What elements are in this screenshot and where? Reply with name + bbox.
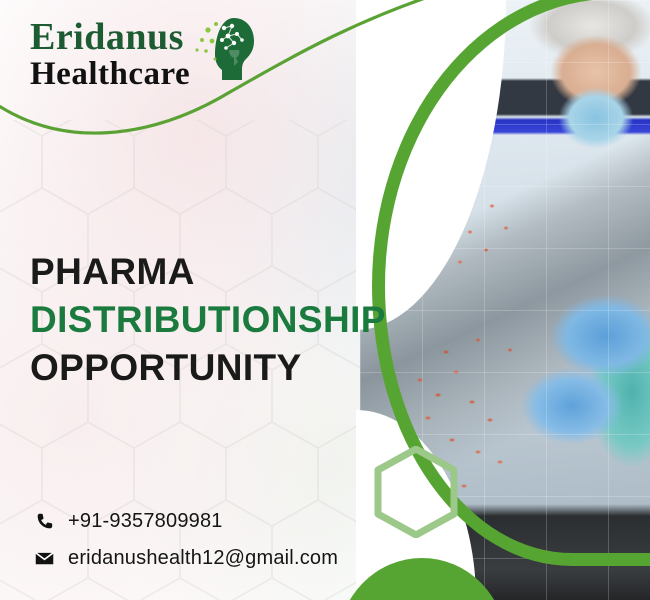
pharma-distributionship-poster: Eridanus Healthcare <box>0 0 650 600</box>
brand-logo[interactable]: Eridanus Healthcare <box>30 18 245 94</box>
headline-line3: OPPORTUNITY <box>30 344 386 392</box>
email-address: eridanushealth12@gmail.com <box>68 547 338 570</box>
contact-phone-row[interactable]: +91-9357809981 <box>33 510 338 533</box>
headline-block: PHARMA DISTRIBUTIONSHIP OPPORTUNITY <box>30 248 386 392</box>
contact-block: +91-9357809981 eridanushealth12@gmail.co… <box>33 510 338 570</box>
headline-line1: PHARMA <box>30 248 386 296</box>
headline-line2: DISTRIBUTIONSHIP <box>30 296 386 344</box>
envelope-icon <box>33 548 55 570</box>
phone-number: +91-9357809981 <box>68 510 223 533</box>
brand-name-line2: Healthcare <box>30 58 190 91</box>
head-profile-brain-icon <box>182 10 258 82</box>
phone-icon <box>33 511 55 533</box>
brand-wordmark: Eridanus Healthcare <box>30 18 190 91</box>
contact-email-row[interactable]: eridanushealth12@gmail.com <box>33 547 338 570</box>
brand-name-line1: Eridanus <box>30 18 190 56</box>
hexagon-outline <box>374 446 458 538</box>
